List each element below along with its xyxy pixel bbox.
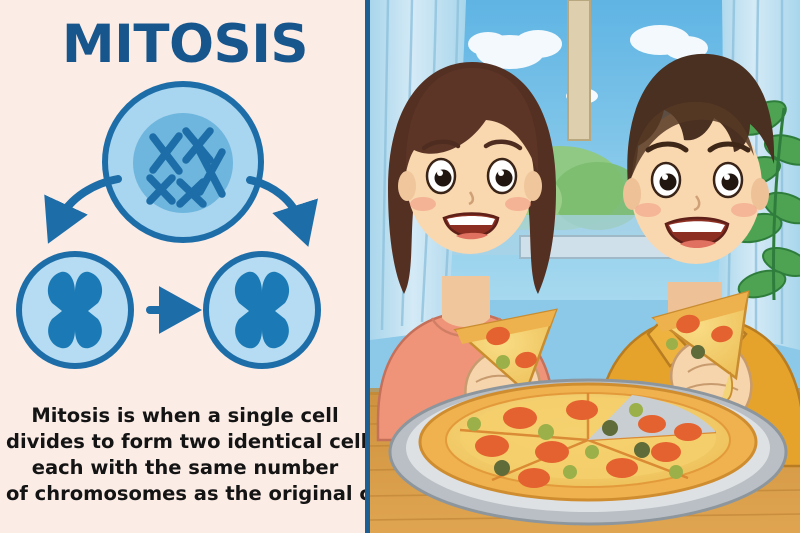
caption-line-3: each with the same number xyxy=(6,455,364,481)
parent-cell xyxy=(105,84,261,240)
caption-line-1: Mitosis is when a single cell xyxy=(6,403,364,429)
daughter-cell-right xyxy=(206,254,318,366)
caption-text: Mitosis is when a single cell divides to… xyxy=(0,403,370,507)
right-panel-illustration xyxy=(370,0,800,533)
daughter-cell-left xyxy=(19,254,131,366)
caption-line-4: of chromosomes as the original cell. xyxy=(6,481,364,507)
pizza-on-pan xyxy=(390,380,786,524)
girl-neck xyxy=(442,276,490,327)
mitosis-diagram xyxy=(0,0,370,380)
pizza-scene xyxy=(370,0,800,533)
mitosis-pizza-infographic: MITOSIS xyxy=(0,0,800,533)
left-panel-diagram: MITOSIS xyxy=(0,0,370,533)
caption-line-2: divides to form two identical cells, xyxy=(6,429,364,455)
